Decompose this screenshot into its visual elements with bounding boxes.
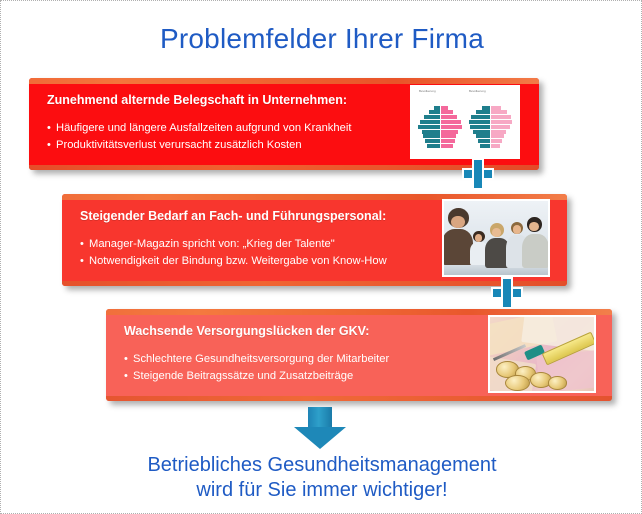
- pyramid-right-female-half: [490, 100, 513, 148]
- plus-symbol-1-icon: [462, 158, 494, 190]
- photo-person-body: [522, 234, 548, 268]
- bullet-marker: •: [47, 137, 56, 154]
- bullet-text: Häufigere und längere Ausfallzeiten aufg…: [56, 122, 351, 134]
- pyramid-chart-canvas: Bevölkerung: [412, 87, 518, 157]
- box-bottom-gradient-band: [106, 396, 612, 401]
- problem-box-3[interactable]: Wachsende Versorgungslücken der GKV: •Sc…: [106, 309, 612, 401]
- bullet-marker: •: [80, 236, 89, 253]
- bullet-text: Schlechtere Gesundheitsversorgung der Mi…: [133, 353, 389, 365]
- arrow-shaft: [308, 407, 332, 429]
- population-pyramid-chart: Bevölkerung: [410, 85, 520, 159]
- pyramid-left-female-half: [440, 100, 463, 148]
- pyramid-center-axis: [440, 100, 441, 148]
- pyramid-right: Bevölkerung: [467, 100, 513, 148]
- bullet-text: Manager-Magazin spricht von: „Krieg der …: [89, 238, 335, 250]
- pyramid-right-caption: Bevölkerung: [469, 89, 486, 93]
- team-photo-canvas: [444, 201, 548, 275]
- conclusion-line-1: Betriebliches Gesundheitsmanagement: [1, 453, 642, 478]
- box-top-gradient-band: [29, 78, 539, 84]
- plus-symbol-2-icon: [491, 277, 523, 309]
- problem-box-3-heading: Wachsende Versorgungslücken der GKV:: [124, 324, 369, 338]
- pyramid-left-male-half: [417, 100, 440, 148]
- photo-person-face: [451, 216, 465, 229]
- bullet-marker: •: [124, 368, 133, 385]
- pyramid-left-caption: Bevölkerung: [419, 89, 436, 93]
- conclusion-text: Betriebliches Gesundheitsmanagement wird…: [1, 453, 642, 503]
- pyramid-left: Bevölkerung: [417, 100, 463, 148]
- plus-vertical-bar: [472, 158, 484, 190]
- business-team-photo: [442, 199, 550, 277]
- problem-box-2-heading: Steigender Bedarf an Fach- und Führungsp…: [80, 209, 386, 223]
- arrow-head: [294, 427, 346, 449]
- list-item: •Steigende Beitragssätze und Zusatzbeitr…: [124, 368, 389, 385]
- plus-vertical-bar: [501, 277, 513, 309]
- problem-box-3-bullets: •Schlechtere Gesundheitsversorgung der M…: [124, 351, 389, 385]
- bullet-marker: •: [47, 120, 56, 137]
- page-title: Problemfelder Ihrer Firma: [1, 23, 642, 55]
- photo-person-face: [513, 225, 521, 233]
- photo-person-face: [529, 222, 538, 231]
- money-syringe-photo: [488, 315, 596, 393]
- list-item: •Manager-Magazin spricht von: „Krieg der…: [80, 236, 387, 253]
- photo-person-face: [492, 228, 501, 237]
- pyramid-right-body: [467, 100, 513, 148]
- problem-box-1-bullets: •Häufigere und längere Ausfallzeiten auf…: [47, 120, 351, 154]
- list-item: •Produktivitätsverlust verursacht zusätz…: [47, 137, 351, 154]
- list-item: •Notwendigkeit der Bindung bzw. Weiterga…: [80, 253, 387, 270]
- pyramid-left-body: [417, 100, 463, 148]
- problem-box-1[interactable]: Zunehmend alternde Belegschaft in Untern…: [29, 78, 539, 170]
- bullet-marker: •: [124, 351, 133, 368]
- problem-box-2-bullets: •Manager-Magazin spricht von: „Krieg der…: [80, 236, 387, 270]
- problem-box-2[interactable]: Steigender Bedarf an Fach- und Führungsp…: [62, 194, 567, 286]
- photo-person-body: [444, 229, 473, 265]
- list-item: •Häufigere und längere Ausfallzeiten auf…: [47, 120, 351, 137]
- money-photo-canvas: [490, 317, 594, 391]
- bullet-text: Produktivitätsverlust verursacht zusätzl…: [56, 139, 302, 151]
- pyramid-center-axis: [490, 100, 491, 148]
- list-item: •Schlechtere Gesundheitsversorgung der M…: [124, 351, 389, 368]
- bullet-text: Notwendigkeit der Bindung bzw. Weitergab…: [89, 255, 387, 267]
- problem-box-1-heading: Zunehmend alternde Belegschaft in Untern…: [47, 93, 347, 107]
- pyramid-right-male-half: [467, 100, 490, 148]
- down-arrow-icon: [294, 407, 346, 449]
- coin: [505, 375, 530, 391]
- conclusion-line-2: wird für Sie immer wichtiger!: [1, 478, 642, 503]
- coin: [548, 376, 567, 389]
- bullet-marker: •: [80, 253, 89, 270]
- bullet-text: Steigende Beitragssätze und Zusatzbeiträ…: [133, 370, 353, 382]
- slide-canvas: Problemfelder Ihrer Firma Zunehmend alte…: [0, 0, 642, 514]
